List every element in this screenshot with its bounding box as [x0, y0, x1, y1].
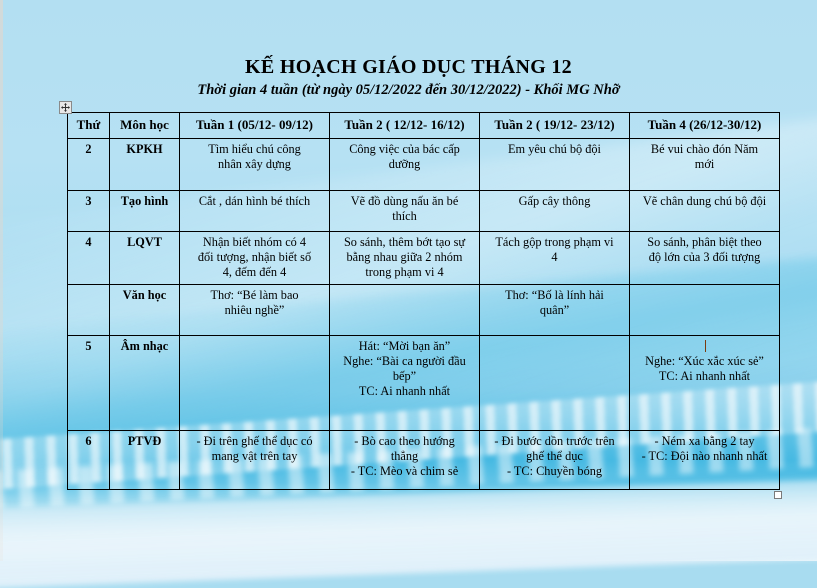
header-week-3-dates: ( 19/12- 23/12) [536, 117, 615, 132]
table-move-handle[interactable] [59, 101, 72, 114]
cell-line: quân” [484, 303, 625, 318]
header-week-1-title: Tuần 1 [196, 117, 234, 132]
cell-kpkh-week3[interactable]: Em yêu chú bộ đội [480, 138, 630, 190]
cell-lqvt-week4[interactable]: So sánh, phân biệt theođộ lớn của 3 đối … [630, 231, 780, 284]
document-page: KẾ HOẠCH GIÁO DỤC THÁNG 12 Thời gian 4 t… [0, 0, 817, 561]
cell-ptvđ-week3[interactable]: - Đi bước dồn trước trênghế thể dục- TC:… [480, 430, 630, 489]
header-thu: Thứ [68, 113, 110, 139]
cell-line: Bé vui chào đón Năm [634, 142, 775, 157]
cell-mon-hoc[interactable]: KPKH [110, 138, 180, 190]
cell-line: - TC: Mèo và chim sẻ [334, 464, 475, 479]
cell-mon-hoc[interactable]: PTVĐ [110, 430, 180, 489]
cell-ptvđ-week1[interactable]: - Đi trên ghế thể dục cómang vật trên ta… [180, 430, 330, 489]
cell-line: Em yêu chú bộ đội [484, 142, 625, 157]
cell-line: TC: Ai nhanh nhất [634, 369, 775, 384]
header-week-4-title: Tuần 4 [648, 117, 686, 132]
cell-văn-học-week2[interactable] [330, 284, 480, 335]
table-row: Văn họcThơ: “Bé làm baonhiêu nghề”Thơ: “… [68, 284, 780, 335]
cell-thu[interactable]: 2 [68, 138, 110, 190]
cell-line: Tách gộp trong phạm vi [484, 235, 625, 250]
cell-thu[interactable]: 5 [68, 335, 110, 430]
cell-thu[interactable]: 6 [68, 430, 110, 489]
cell-line: độ lớn của 3 đối tượng [634, 250, 775, 265]
cell-kpkh-week2[interactable]: Công việc của bác cấpdưỡng [330, 138, 480, 190]
cell-line: Gấp cây thông [484, 194, 625, 209]
cell-line: - Ném xa bằng 2 tay [634, 434, 775, 449]
education-plan-table: Thứ Môn học Tuần 1 (05/12- 09/12) Tuần 2… [67, 112, 780, 490]
cell-line: Tìm hiểu chú công [184, 142, 325, 157]
header-week-3-title: Tuần 2 [494, 117, 532, 132]
cell-kpkh-week1[interactable]: Tìm hiểu chú côngnhân xây dựng [180, 138, 330, 190]
cell-line: Vẽ đồ dùng nấu ăn bé [334, 194, 475, 209]
header-mon-hoc: Môn học [110, 113, 180, 139]
cell-line: Nghe: “Xúc xắc xúc sẻ” [634, 354, 775, 369]
cell-line: mới [634, 157, 775, 172]
cell-văn-học-week4[interactable] [630, 284, 780, 335]
header-week-4: Tuần 4 (26/12-30/12) [630, 113, 780, 139]
cell-line: 4, đếm đến 4 [184, 265, 325, 280]
cell-line: - TC: Chuyền bóng [484, 464, 625, 479]
cell-line: - Bò cao theo hướng [334, 434, 475, 449]
cell-văn-học-week1[interactable]: Thơ: “Bé làm baonhiêu nghề” [180, 284, 330, 335]
cell-line: thẳng [334, 449, 475, 464]
page-title: KẾ HOẠCH GIÁO DỤC THÁNG 12 [0, 56, 817, 78]
cell-âm-nhạc-week2[interactable]: Hát: “Mời bạn ăn”Nghe: “Bài ca người đầu… [330, 335, 480, 430]
table-row: 2KPKHTìm hiểu chú côngnhân xây dựngCông … [68, 138, 780, 190]
cell-lqvt-week2[interactable]: So sánh, thêm bớt tạo sựbằng nhau giữa 2… [330, 231, 480, 284]
table-row: 3Tạo hìnhCắt , dán hình bé thíchVẽ đồ dù… [68, 190, 780, 231]
cell-line: nhân xây dựng [184, 157, 325, 172]
header-week-2-title: Tuần 2 [344, 117, 382, 132]
header-week-4-dates: (26/12-30/12) [689, 117, 761, 132]
table-row: 6PTVĐ- Đi trên ghế thể dục cómang vật tr… [68, 430, 780, 489]
table-row: 4LQVTNhận biết nhóm có 4đối tượng, nhận … [68, 231, 780, 284]
cell-line: ghế thể dục [484, 449, 625, 464]
cell-line: đối tượng, nhận biết số [184, 250, 325, 265]
header-week-2: Tuần 2 ( 12/12- 16/12) [330, 113, 480, 139]
cell-line: Hát: “Mời bạn ăn” [334, 339, 475, 354]
header-week-1: Tuần 1 (05/12- 09/12) [180, 113, 330, 139]
cell-line: Thơ: “Bé làm bao [184, 288, 325, 303]
cell-mon-hoc[interactable]: Tạo hình [110, 190, 180, 231]
cell-line: nhiêu nghề” [184, 303, 325, 318]
cell-line: bằng nhau giữa 2 nhóm [334, 250, 475, 265]
cell-line: mang vật trên tay [184, 449, 325, 464]
table-header-row: Thứ Môn học Tuần 1 (05/12- 09/12) Tuần 2… [68, 113, 780, 139]
page-subtitle: Thời gian 4 tuần (từ ngày 05/12/2022 đến… [0, 83, 817, 99]
header-week-3: Tuần 2 ( 19/12- 23/12) [480, 113, 630, 139]
cell-thu[interactable]: 3 [68, 190, 110, 231]
cell-line: Công việc của bác cấp [334, 142, 475, 157]
cell-tạo-hình-week2[interactable]: Vẽ đồ dùng nấu ăn béthích [330, 190, 480, 231]
cell-tạo-hình-week1[interactable]: Cắt , dán hình bé thích [180, 190, 330, 231]
cell-line: bếp” [334, 369, 475, 384]
cell-line: So sánh, phân biệt theo [634, 235, 775, 250]
header-week-1-dates: (05/12- 09/12) [237, 117, 312, 132]
cell-line: Thơ: “Bố là lính hải [484, 288, 625, 303]
table-body: 2KPKHTìm hiểu chú côngnhân xây dựngCông … [68, 138, 780, 489]
table-row: 5Âm nhạcHát: “Mời bạn ăn”Nghe: “Bài ca n… [68, 335, 780, 430]
cell-kpkh-week4[interactable]: Bé vui chào đón Nămmới [630, 138, 780, 190]
cell-mon-hoc[interactable]: Văn học [110, 284, 180, 335]
cell-line: 4 [484, 250, 625, 265]
cell-line: trong phạm vi 4 [334, 265, 475, 280]
header-week-2-dates: ( 12/12- 16/12) [386, 117, 465, 132]
cell-line: TC: Ai nhanh nhất [334, 384, 475, 399]
table-header: Thứ Môn học Tuần 1 (05/12- 09/12) Tuần 2… [68, 113, 780, 139]
cell-line: Vẽ chân dung chú bộ đội [634, 194, 775, 209]
header-mon-hoc-line1: Môn học [120, 117, 169, 132]
cell-line: Nhận biết nhóm có 4 [184, 235, 325, 250]
cell-văn-học-week3[interactable]: Thơ: “Bố là lính hảiquân” [480, 284, 630, 335]
cell-âm-nhạc-week4[interactable]: Nghe: “Xúc xắc xúc sẻ”TC: Ai nhanh nhất [630, 335, 780, 430]
table-resize-handle[interactable] [774, 491, 782, 499]
cell-line: Nghe: “Bài ca người đầu [334, 354, 475, 369]
text-cursor-caret [705, 340, 706, 352]
cell-line: - Đi trên ghế thể dục có [184, 434, 325, 449]
header-thu-line1: Thứ [77, 117, 101, 132]
move-cross-icon [61, 103, 70, 112]
cell-line: - Đi bước dồn trước trên [484, 434, 625, 449]
cell-tạo-hình-week4[interactable]: Vẽ chân dung chú bộ đội [630, 190, 780, 231]
cell-line: thích [334, 209, 475, 224]
cell-âm-nhạc-week3[interactable] [480, 335, 630, 430]
cell-line: - TC: Đội nào nhanh nhất [634, 449, 775, 464]
cell-thu[interactable] [68, 284, 110, 335]
cell-lqvt-week3[interactable]: Tách gộp trong phạm vi4 [480, 231, 630, 284]
cell-mon-hoc[interactable]: LQVT [110, 231, 180, 284]
cell-ptvđ-week2[interactable]: - Bò cao theo hướngthẳng- TC: Mèo và chi… [330, 430, 480, 489]
cell-thu[interactable]: 4 [68, 231, 110, 284]
cell-line: Cắt , dán hình bé thích [184, 194, 325, 209]
cell-tạo-hình-week3[interactable]: Gấp cây thông [480, 190, 630, 231]
cell-mon-hoc[interactable]: Âm nhạc [110, 335, 180, 430]
cell-ptvđ-week4[interactable]: - Ném xa bằng 2 tay- TC: Đội nào nhanh n… [630, 430, 780, 489]
cell-line: dưỡng [334, 157, 475, 172]
title-block: KẾ HOẠCH GIÁO DỤC THÁNG 12 Thời gian 4 t… [0, 56, 817, 99]
cell-line: So sánh, thêm bớt tạo sự [334, 235, 475, 250]
cell-âm-nhạc-week1[interactable] [180, 335, 330, 430]
cell-lqvt-week1[interactable]: Nhận biết nhóm có 4đối tượng, nhận biết … [180, 231, 330, 284]
